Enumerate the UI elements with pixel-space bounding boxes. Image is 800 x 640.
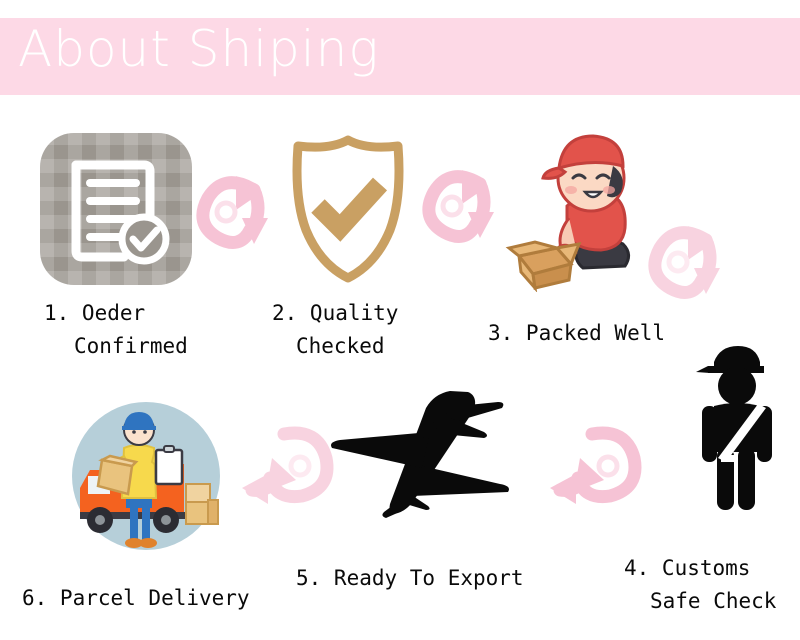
arrow-step3-to-step4 — [644, 218, 752, 314]
arrow-step4-to-step5 — [546, 418, 654, 518]
step-label-line1: 4. Customs — [624, 556, 750, 580]
infographic-page: About Shiping 1. OederConfirmed — [0, 0, 800, 640]
step-label-line1: 1. Oeder — [44, 301, 145, 325]
step-label-line1: 5. Ready To Export — [296, 566, 524, 590]
step-label-line1: 2. Quality — [272, 301, 398, 325]
step-label-customs-safe-check: 4. CustomsSafe Check — [624, 552, 800, 618]
step-label-line1: 3. Packed Well — [488, 321, 665, 345]
delivery-truck-icon — [58, 400, 238, 555]
arrow-step5-to-step6 — [238, 418, 346, 518]
customs-officer-icon — [688, 340, 784, 515]
step-label-packed-well: 3. Packed Well — [488, 317, 718, 350]
page-title: About Shiping — [18, 24, 379, 74]
step-label-ready-to-export: 5. Ready To Export — [296, 562, 556, 595]
step-label-line1: 6. Parcel Delivery — [22, 586, 250, 610]
step-label-order-confirmed: 1. OederConfirmed — [44, 297, 254, 363]
document-check-icon — [40, 133, 192, 285]
shield-check-icon — [268, 128, 428, 288]
step-label-line2: Safe Check — [624, 589, 776, 613]
step-label-line2: Confirmed — [44, 334, 188, 358]
step-label-parcel-delivery: 6. Parcel Delivery — [22, 582, 282, 615]
step-label-line2: Checked — [272, 334, 385, 358]
step-label-quality-checked: 2. QualityChecked — [272, 297, 472, 363]
airplane-icon — [318, 388, 533, 528]
